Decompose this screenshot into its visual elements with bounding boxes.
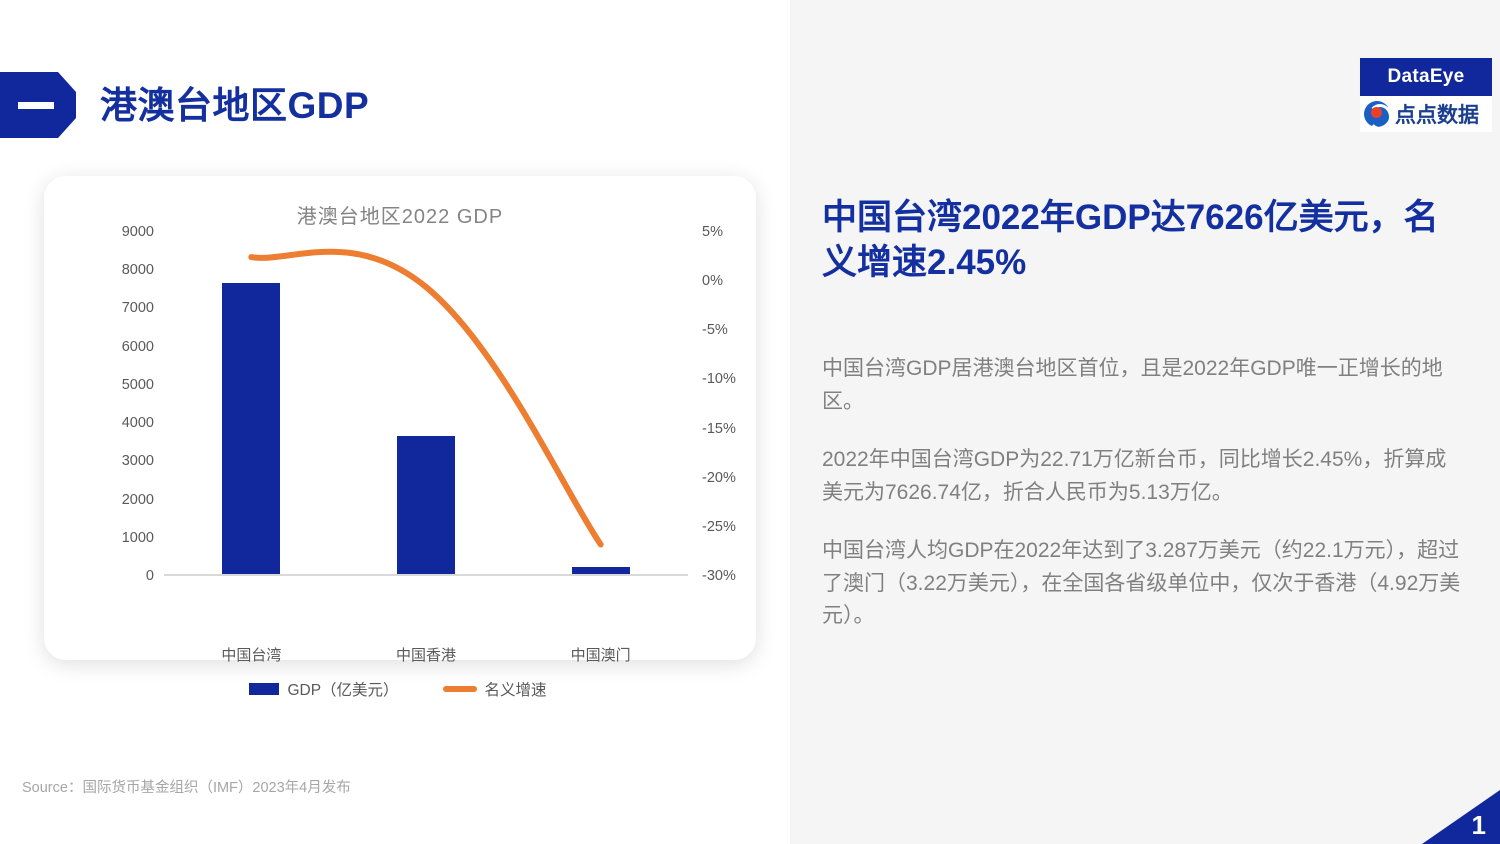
x-tick-label-1: 中国香港 bbox=[346, 644, 506, 665]
badge-dash-icon bbox=[18, 102, 54, 109]
y-axis-left: 9000800070006000500040003000200010000 bbox=[108, 232, 160, 576]
y-axis-right: 5%0%-5%-10%-15%-20%-25%-30% bbox=[692, 232, 754, 576]
y-left-tick: 1000 bbox=[122, 531, 154, 546]
legend-line-swatch-icon bbox=[443, 686, 477, 692]
y-left-tick: 8000 bbox=[122, 263, 154, 278]
legend-item-gdp: GDP（亿美元） bbox=[249, 678, 398, 700]
y-left-tick: 5000 bbox=[122, 378, 154, 393]
chart-data-panel bbox=[164, 232, 688, 576]
y-left-tick: 9000 bbox=[122, 225, 154, 240]
y-right-tick: -10% bbox=[702, 372, 736, 387]
y-right-tick: -30% bbox=[702, 569, 736, 584]
x-tick-label-2: 中国澳门 bbox=[521, 644, 681, 665]
y-right-tick: 0% bbox=[702, 274, 723, 289]
page-number: 1 bbox=[1472, 812, 1486, 838]
legend-bar-swatch-icon bbox=[249, 683, 279, 695]
y-left-tick: 0 bbox=[146, 569, 154, 584]
insight-paragraph-3: 中国台湾人均GDP在2022年达到了3.287万美元（约22.1万元），超过了澳… bbox=[822, 535, 1462, 633]
legend-item-growth: 名义增速 bbox=[443, 678, 547, 700]
x-tick-label-0: 中国台湾 bbox=[171, 644, 331, 665]
y-left-tick: 2000 bbox=[122, 493, 154, 508]
y-right-tick: -15% bbox=[702, 422, 736, 437]
chart-card: 港澳台地区2022 GDP 90008000700060005000400030… bbox=[44, 176, 756, 660]
y-left-tick: 7000 bbox=[122, 301, 154, 316]
insight-paragraph-1: 中国台湾GDP居港澳台地区首位，且是2022年GDP唯一正增长的地区。 bbox=[822, 353, 1462, 418]
insight-headline: 中国台湾2022年GDP达7626亿美元，名义增速2.45% bbox=[822, 196, 1462, 286]
y-left-tick: 4000 bbox=[122, 416, 154, 431]
brand-logo: DataEye 点点数据 bbox=[1360, 58, 1492, 132]
section-number-badge bbox=[0, 72, 76, 138]
bar-0 bbox=[222, 283, 280, 574]
y-left-tick: 3000 bbox=[122, 454, 154, 469]
slide: 港澳台地区GDP DataEye 点点数据 港澳台地区2022 GDP 9000… bbox=[0, 0, 1500, 844]
y-right-tick: -25% bbox=[702, 520, 736, 535]
slide-header: 港澳台地区GDP bbox=[0, 72, 369, 138]
bar-1 bbox=[397, 436, 455, 574]
logo-brand-en: DataEye bbox=[1360, 58, 1492, 96]
dataeye-mark-icon bbox=[1364, 101, 1390, 127]
chart-legend: GDP（亿美元） 名义增速 bbox=[108, 678, 688, 700]
insight-body: 中国台湾GDP居港澳台地区首位，且是2022年GDP唯一正增长的地区。 2022… bbox=[822, 332, 1462, 633]
logo-brand-cn: 点点数据 bbox=[1395, 99, 1479, 129]
page-title: 港澳台地区GDP bbox=[100, 87, 369, 124]
y-right-tick: -5% bbox=[702, 323, 728, 338]
y-left-tick: 6000 bbox=[122, 340, 154, 355]
y-right-tick: -20% bbox=[702, 471, 736, 486]
bar-2 bbox=[572, 567, 630, 574]
legend-label-growth: 名义增速 bbox=[485, 678, 547, 700]
source-note: Source：国际货币基金组织（IMF）2023年4月发布 bbox=[22, 776, 351, 797]
logo-brand-cn-row: 点点数据 bbox=[1360, 96, 1492, 132]
legend-label-gdp: GDP（亿美元） bbox=[287, 678, 398, 700]
insight-paragraph-2: 2022年中国台湾GDP为22.71万亿新台币，同比增长2.45%，折算成美元为… bbox=[822, 444, 1462, 509]
y-right-tick: 5% bbox=[702, 225, 723, 240]
chart-plot-area: 9000800070006000500040003000200010000 5%… bbox=[108, 232, 688, 576]
